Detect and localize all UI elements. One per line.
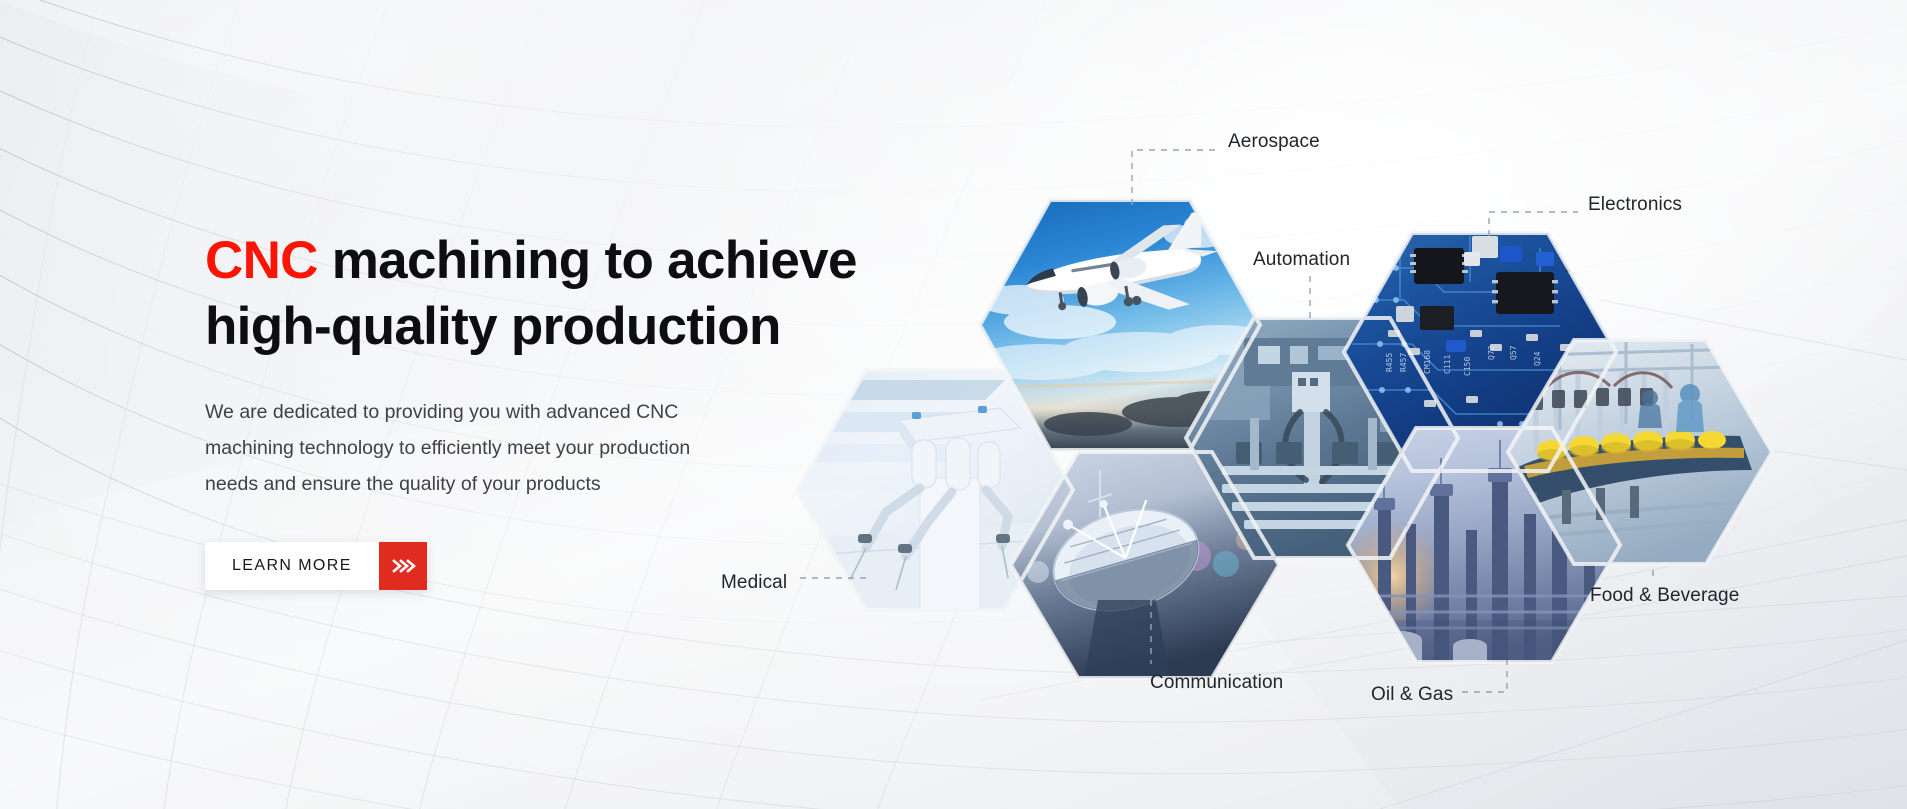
hero-banner: R455 R457 CM168 C111 C150 Q72 Q57 Q24 [0, 0, 1907, 809]
svg-text:Q24: Q24 [1533, 351, 1542, 366]
industry-label-communication: Communication [1150, 672, 1283, 694]
hero-description-line-1: We are dedicated to providing you with a… [205, 394, 735, 430]
learn-more-button[interactable]: LEARN MORE [205, 542, 427, 590]
svg-text:Q72: Q72 [1487, 345, 1496, 360]
industry-label-automation: Automation [1253, 249, 1350, 271]
svg-text:R457: R457 [1399, 353, 1408, 372]
hexagon-oil-gas [1338, 423, 1627, 668]
svg-text:CM168: CM168 [1423, 350, 1432, 374]
industry-label-electronics: Electronics [1588, 194, 1682, 216]
svg-text:R455: R455 [1385, 353, 1394, 372]
hexagon-aerospace [970, 195, 1276, 455]
svg-text:C150: C150 [1463, 357, 1472, 376]
connector-oil-gas [1462, 660, 1507, 692]
svg-text:Q57: Q57 [1509, 345, 1518, 360]
double-chevron-right-icon[interactable] [379, 542, 427, 590]
hexagon-food-beverage [1502, 335, 1778, 570]
page-title: CNC machining to achieve high-quality pr… [205, 228, 905, 360]
hexagon-communication [1005, 448, 1285, 683]
hero-description-line-2: machining technology to efficiently meet… [205, 430, 735, 466]
industry-label-food-beverage: Food & Beverage [1590, 585, 1739, 607]
hero-copy-block: CNC machining to achieve high-quality pr… [205, 228, 905, 590]
hero-description-line-3: needs and ensure the quality of your pro… [205, 466, 735, 502]
connector-aerospace [1132, 150, 1215, 205]
svg-text:C111: C111 [1443, 355, 1452, 374]
hexagon-automation [1180, 313, 1465, 563]
industry-label-aerospace: Aerospace [1228, 131, 1320, 153]
learn-more-label: LEARN MORE [205, 542, 379, 590]
headline-line2: high-quality production [205, 297, 781, 356]
industry-label-oil-gas: Oil & Gas [1371, 684, 1453, 706]
headline-accent-word: CNC [205, 231, 318, 290]
hero-description: We are dedicated to providing you with a… [205, 394, 735, 502]
connector-electronics [1489, 212, 1578, 236]
hexagon-electronics: R455 R457 CM168 C111 C150 Q72 Q57 Q24 [1338, 228, 1623, 478]
industry-label-medical: Medical [721, 572, 787, 594]
headline-line1-rest: machining to achieve [318, 231, 857, 290]
